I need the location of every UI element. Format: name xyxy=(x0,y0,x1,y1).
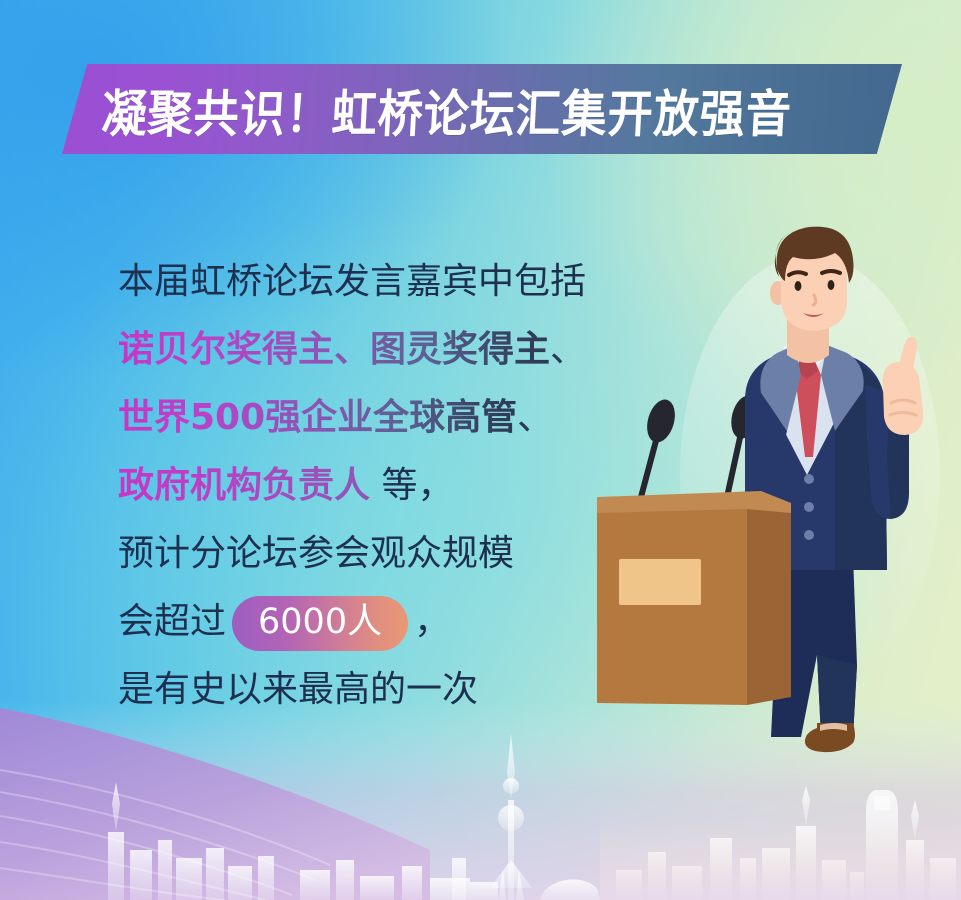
copy-line-4-suffix: 等， xyxy=(370,465,453,506)
copy-line-6-suffix: ， xyxy=(414,601,450,642)
eyebrow-right xyxy=(822,271,840,273)
shanghai-tower xyxy=(850,790,956,900)
suit-buttons xyxy=(804,474,814,540)
copy-line-1: 本届虹桥论坛发言嘉宾中包括 xyxy=(118,248,638,316)
copy-line-3-highlight: 世界500强企业全球高管 xyxy=(118,397,517,438)
hair xyxy=(777,227,854,283)
copy-line-7: 是有史以来最高的一次 xyxy=(118,656,638,724)
microphone-right xyxy=(727,393,763,497)
skyline-haze xyxy=(0,700,961,900)
nose xyxy=(813,295,816,305)
mouth xyxy=(803,313,824,317)
skyline-svg xyxy=(0,700,961,900)
copy-line-6: 会超过6000人， xyxy=(118,588,638,656)
pointing-hand xyxy=(883,337,923,435)
microphone-left xyxy=(641,396,680,497)
copy-line-2-suffix: 、 xyxy=(550,329,586,370)
raised-arm xyxy=(865,385,909,519)
face xyxy=(781,229,847,331)
copy-line-3-suffix: 、 xyxy=(517,397,553,438)
skyline-band xyxy=(0,700,961,900)
copy-line-3: 世界500强企业全球高管、 xyxy=(118,384,638,452)
copy-line-4: 政府机构负责人 等， xyxy=(118,452,638,520)
skyline-buildings-center xyxy=(300,858,470,900)
speaker-illustration-svg xyxy=(595,225,961,755)
copy-line-1-text: 本届虹桥论坛发言嘉宾中包括 xyxy=(118,261,586,302)
attendance-count-pill: 6000人 xyxy=(232,596,408,651)
eyebrow-left xyxy=(789,272,806,275)
title-banner: 凝聚共识！虹桥论坛汇集开放强音 xyxy=(62,64,902,154)
head xyxy=(770,227,854,331)
body-copy: 本届虹桥论坛发言嘉宾中包括 诺贝尔奖得主、图灵奖得主、 世界500强企业全球高管… xyxy=(118,248,638,724)
copy-line-2: 诺贝尔奖得主、图灵奖得主、 xyxy=(118,316,638,384)
skyline-buildings-right xyxy=(616,786,846,900)
neck xyxy=(787,317,829,363)
purple-swoosh xyxy=(0,708,430,900)
banner-title-text: 凝聚共识！虹桥论坛汇集开放强音 xyxy=(100,73,794,146)
podium-side xyxy=(747,509,791,705)
eye-right xyxy=(828,280,835,290)
hair-shadow xyxy=(775,231,791,277)
figure-glow xyxy=(680,255,940,695)
copy-line-5: 预计分论坛参会观众规模 xyxy=(118,520,638,588)
suit-body xyxy=(745,355,887,570)
oriental-pearl-tower xyxy=(490,734,532,900)
copy-line-2-highlight: 诺贝尔奖得主、图灵奖得主 xyxy=(118,329,550,370)
copy-line-5-text: 预计分论坛参会观众规模 xyxy=(118,533,514,574)
trousers xyxy=(771,555,857,737)
poster-canvas: 凝聚共识！虹桥论坛汇集开放强音 xyxy=(0,0,961,900)
skyline-dome xyxy=(470,879,600,900)
suit-lapels xyxy=(755,345,867,455)
copy-line-7-text: 是有史以来最高的一次 xyxy=(118,669,478,710)
necktie xyxy=(795,359,821,457)
copy-line-4-highlight: 政府机构负责人 xyxy=(118,465,370,506)
ear xyxy=(770,281,786,305)
eye-left xyxy=(795,281,802,291)
shirt-and-tie xyxy=(779,341,835,475)
copy-line-6-prefix: 会超过 xyxy=(118,601,226,642)
skyline-right-haze xyxy=(600,820,961,900)
speaker-illustration xyxy=(595,225,961,755)
skyline-buildings-left xyxy=(108,782,274,900)
shoe xyxy=(805,723,855,752)
